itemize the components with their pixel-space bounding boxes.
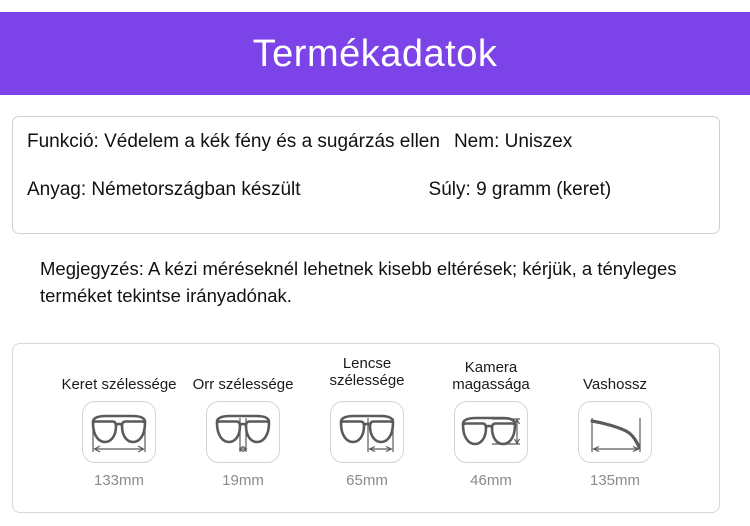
page-title: Termékadatok <box>253 35 498 73</box>
measurement-value: 46mm <box>470 472 512 489</box>
measurement-note: Megjegyzés: A kézi méréseknél lehetnek k… <box>40 256 712 310</box>
product-details-page: Termékadatok Funkció: Védelem a kék fény… <box>0 0 750 526</box>
specifications-box: Funkció: Védelem a kék fény és a sugárzá… <box>12 116 720 234</box>
measurement-item-frame-width: Keret szélessége <box>57 352 181 489</box>
measurement-value: 133mm <box>94 472 144 489</box>
spec-function: Funkció: Védelem a kék fény és a sugárzá… <box>27 131 440 153</box>
measurement-label: Lencse szélessége <box>305 352 429 396</box>
measurement-label: Vashossz <box>583 352 647 396</box>
measurement-item-lens-height: Kamera magassága <box>429 352 553 489</box>
measurement-value: 135mm <box>590 472 640 489</box>
measurement-label: Orr szélessége <box>193 352 294 396</box>
measurement-item-bridge-width: Orr szélessége <box>181 352 305 489</box>
measurement-label: Kamera magassága <box>429 352 553 396</box>
glasses-lens-height-icon <box>454 401 528 463</box>
glasses-temple-length-icon <box>578 401 652 463</box>
measurement-item-temple-length: Vashossz 1 <box>553 352 677 489</box>
glasses-lens-width-icon <box>330 401 404 463</box>
measurement-value: 65mm <box>346 472 388 489</box>
measurements-box: Keret szélessége <box>12 343 720 513</box>
spec-weight: Súly: 9 gramm (keret) <box>429 179 612 201</box>
glasses-frame-width-icon <box>82 401 156 463</box>
measurement-value: 19mm <box>222 472 264 489</box>
spec-row-material-weight: Anyag: Németországban készült Súly: 9 gr… <box>13 179 719 223</box>
spec-material: Anyag: Németországban készült <box>27 179 301 201</box>
page-header-banner: Termékadatok <box>0 12 750 95</box>
measurement-label: Keret szélessége <box>61 352 176 396</box>
measurements-row: Keret szélessége <box>31 352 703 504</box>
measurement-item-lens-width: Lencse szélessége <box>305 352 429 489</box>
glasses-bridge-width-icon <box>206 401 280 463</box>
spec-gender: Nem: Uniszex <box>454 131 572 153</box>
spec-row-function-gender: Funkció: Védelem a kék fény és a sugárzá… <box>13 131 719 175</box>
